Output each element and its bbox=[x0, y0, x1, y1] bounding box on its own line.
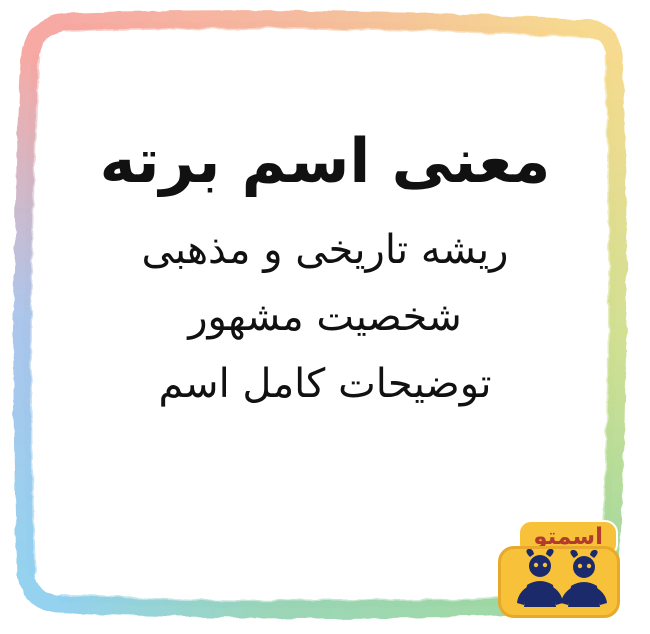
brand-logo: اسمتو bbox=[498, 520, 626, 616]
poster-canvas: معنی اسم برته ریشه تاریخی و مذهبی شخصیت … bbox=[0, 0, 650, 634]
kids-illustration bbox=[498, 546, 620, 618]
